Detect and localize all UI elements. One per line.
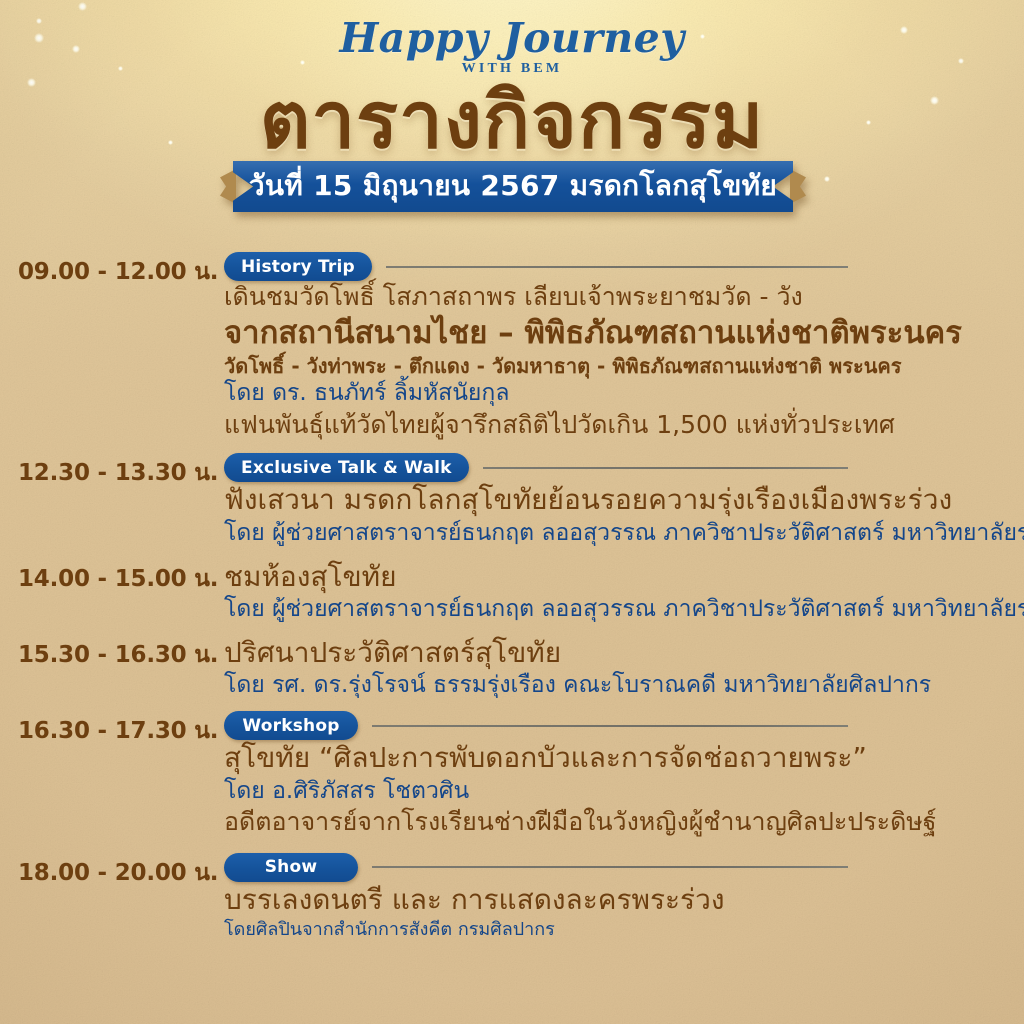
schedule-time: 09.00 - 12.00 น. [18, 252, 224, 290]
schedule-detail: History Tripเดินชมวัดโพธิ์ โสภาสถาพร เลี… [224, 252, 1024, 441]
schedule-text-line: แฟนพันธุ์แท้วัดไทยผู้จารึกสถิติไปวัดเกิน… [224, 409, 1024, 442]
schedule-text-line: อดีตอาจารย์จากโรงเรียนช่างฝีมือในวังหญิง… [224, 806, 1024, 839]
schedule-text-line: บรรเลงดนตรี และ การแสดงละครพระร่วง [224, 882, 1024, 918]
schedule-speaker-line: โดยศิลปินจากสำนักการสังคีต กรมศิลปากร [224, 918, 1024, 942]
schedule-text-line: สุโขทัย “ศิลปะการพับดอกบัวและการจัดช่อถว… [224, 740, 1024, 776]
category-badge[interactable]: Workshop [224, 711, 358, 740]
schedule-row: 16.30 - 17.30 น.Workshopสุโขทัย “ศิลปะกา… [0, 711, 1024, 839]
schedule-time: 12.30 - 13.30 น. [18, 453, 224, 491]
logo-subtitle-text: WITH BEM [0, 61, 1024, 77]
schedule-text-line: จากสถานีสนามไชย – พิพิธภัณฑสถานแห่งชาติพ… [224, 314, 1024, 353]
schedule-text-line: ฟังเสวนา มรดกโลกสุโขทัยย้อนรอยความรุ่งเร… [224, 482, 1024, 518]
category-badge[interactable]: Show [224, 853, 358, 882]
logo-script-text: Happy Journey [0, 18, 1024, 59]
category-badge[interactable]: History Trip [224, 252, 372, 281]
schedule-list: 09.00 - 12.00 น.History Tripเดินชมวัดโพธ… [0, 252, 1024, 952]
schedule-row: 12.30 - 13.30 น.Exclusive Talk & Walkฟัง… [0, 453, 1024, 548]
schedule-badge-line: History Trip [224, 252, 1024, 281]
schedule-speaker-line: โดย อ.ศิริภัสสร โชตวศิน [224, 777, 1024, 807]
brand-logo: Happy Journey WITH BEM [0, 18, 1024, 77]
schedule-row: 15.30 - 16.30 น.ปริศนาประวัติศาสตร์สุโขท… [0, 635, 1024, 701]
schedule-detail: Exclusive Talk & Walkฟังเสวนา มรดกโลกสุโ… [224, 453, 1024, 548]
schedule-detail: Showบรรเลงดนตรี และ การแสดงละครพระร่วงโด… [224, 853, 1024, 942]
badge-divider-rule [386, 266, 848, 268]
schedule-speaker-line: โดย ผู้ช่วยศาสตราจารย์ธนกฤต ลออสุวรรณ ภา… [224, 519, 1024, 549]
schedule-row: 09.00 - 12.00 น.History Tripเดินชมวัดโพธ… [0, 252, 1024, 441]
badge-divider-rule [372, 725, 848, 727]
schedule-badge-line: Workshop [224, 711, 1024, 740]
poster-canvas: Happy Journey WITH BEM ตารางกิจกรรม วันท… [0, 0, 1024, 1024]
schedule-detail: ปริศนาประวัติศาสตร์สุโขทัยโดย รศ. ดร.รุ่… [224, 635, 1024, 701]
category-badge[interactable]: Exclusive Talk & Walk [224, 453, 469, 482]
schedule-detail: ชมห้องสุโขทัยโดย ผู้ช่วยศาสตราจารย์ธนกฤต… [224, 559, 1024, 625]
schedule-row: 14.00 - 15.00 น.ชมห้องสุโขทัยโดย ผู้ช่วย… [0, 559, 1024, 625]
badge-divider-rule [483, 467, 848, 469]
schedule-detail: Workshopสุโขทัย “ศิลปะการพับดอกบัวและการ… [224, 711, 1024, 839]
sparkle-icon [824, 176, 830, 182]
schedule-text-line: ชมห้องสุโขทัย [224, 559, 1024, 595]
schedule-time: 15.30 - 16.30 น. [18, 635, 224, 673]
page-title: ตารางกิจกรรม [0, 82, 1024, 160]
date-banner-text: วันที่ 15 มิถุนายน 2567 มรดกโลกสุโขทัย [233, 161, 793, 212]
schedule-speaker-line: โดย รศ. ดร.รุ่งโรจน์ ธรรมรุ่งเรือง คณะโบ… [224, 671, 1024, 701]
schedule-time: 18.00 - 20.00 น. [18, 853, 224, 891]
schedule-speaker-line: โดย ผู้ช่วยศาสตราจารย์ธนกฤต ลออสุวรรณ ภา… [224, 595, 1024, 625]
sparkle-icon [78, 2, 87, 11]
date-banner: วันที่ 15 มิถุนายน 2567 มรดกโลกสุโขทัย [233, 161, 793, 212]
schedule-text-line: เดินชมวัดโพธิ์ โสภาสถาพร เลียบเจ้าพระยาช… [224, 281, 1024, 314]
badge-divider-rule [372, 866, 848, 868]
schedule-badge-line: Exclusive Talk & Walk [224, 453, 1024, 482]
schedule-row: 18.00 - 20.00 น.Showบรรเลงดนตรี และ การแ… [0, 853, 1024, 942]
schedule-speaker-line: โดย ดร. ธนภัทร์ ลิ้มหัสนัยกุล [224, 379, 1024, 409]
schedule-text-line: ปริศนาประวัติศาสตร์สุโขทัย [224, 635, 1024, 671]
schedule-badge-line: Show [224, 853, 1024, 882]
schedule-time: 16.30 - 17.30 น. [18, 711, 224, 749]
schedule-time: 14.00 - 15.00 น. [18, 559, 224, 597]
schedule-text-line: วัดโพธิ์ - วังท่าพระ - ตึกแดง - วัดมหาธา… [224, 353, 1024, 379]
